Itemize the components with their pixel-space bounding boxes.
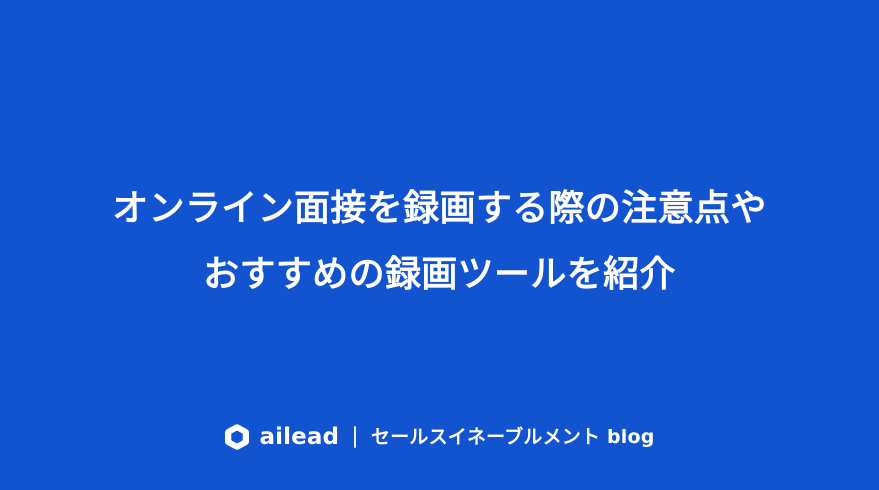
ailead-hexagon-logo-icon [224,424,250,450]
title-line-1: オンライン面接を録画する際の注意点や [48,176,831,242]
brand-divider [354,426,356,448]
brand-lockup: ailead セールスイネーブルメント blog [0,420,879,454]
title-line-2: おすすめの録画ツールを紹介 [48,242,831,308]
brand-tagline: セールスイネーブルメント blog [371,428,654,447]
page-title: オンライン面接を録画する際の注意点や おすすめの録画ツールを紹介 [0,176,879,308]
ogp-card: オンライン面接を録画する際の注意点や おすすめの録画ツールを紹介 ailead … [0,0,879,490]
brand-wordmark: ailead [259,426,339,449]
